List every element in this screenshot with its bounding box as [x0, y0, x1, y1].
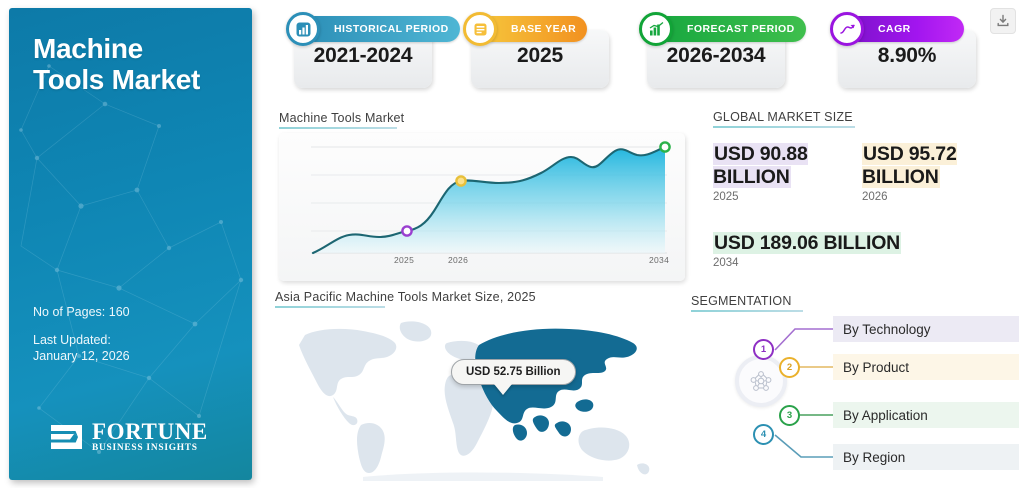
segmentation-number-label: 4	[761, 429, 766, 440]
trend-up-icon	[830, 12, 864, 46]
segmentation-number-label: 1	[761, 344, 766, 355]
connector-4	[775, 435, 833, 457]
page-title: Machine Tools Market	[33, 33, 238, 95]
download-button[interactable]	[990, 8, 1016, 34]
segmentation-number-4: 4	[753, 424, 774, 445]
connector-1	[775, 329, 833, 350]
market-size-chart: 2025 2026 2034	[279, 133, 685, 281]
chart-marker-2025	[402, 226, 411, 235]
segmentation-number-label: 2	[787, 362, 792, 373]
page-title-line2: Tools Market	[33, 64, 200, 95]
map-tooltip-value: USD 52.75 Billion	[466, 366, 561, 378]
last-updated-label: Last Updated:	[33, 332, 130, 348]
segmentation-number-2: 2	[779, 357, 800, 378]
map-heading: Asia Pacific Machine Tools Market Size, …	[275, 290, 536, 308]
kpi-value: 2021-2024	[294, 44, 432, 68]
kpi-card-cagr[interactable]: CAGR 8.90%	[824, 16, 976, 88]
gms-value-2034: USD 189.06 BILLION 2034	[713, 232, 1013, 269]
segmentation-item-by-region[interactable]: By Region	[833, 444, 1019, 470]
map-tooltip: USD 52.75 Billion	[451, 359, 576, 385]
gms-amount: USD 189.06 BILLION	[713, 232, 901, 254]
global-market-size-heading: GLOBAL MARKET SIZE	[713, 110, 853, 128]
kpi-value: 2025	[471, 44, 609, 68]
segmentation-item-by-product[interactable]: By Product	[833, 354, 1019, 380]
chart-growth-icon	[639, 12, 673, 46]
chart-canvas	[279, 133, 685, 281]
gms-year: 2034	[713, 257, 1013, 269]
chart-heading: Machine Tools Market	[279, 111, 404, 129]
kpi-label: HISTORICAL PERIOD	[334, 23, 449, 35]
chart-xtick-2026: 2026	[448, 255, 468, 265]
segmentation-item-label: By Region	[843, 450, 905, 465]
kpi-value: 8.90%	[838, 44, 976, 68]
world-map: USD 52.75 Billion	[283, 313, 683, 481]
kpi-label-pill: FORECAST PERIOD	[655, 16, 806, 42]
download-icon	[996, 14, 1010, 28]
chart-marker-2034	[660, 142, 669, 151]
kpi-label: CAGR	[878, 23, 911, 35]
chart-area-fill	[313, 147, 665, 253]
page-count-label: No of Pages: 160	[33, 304, 130, 320]
logo-text-secondary: BUSINESS INSIGHTS	[92, 444, 208, 453]
gms-value-2025: USD 90.88 BILLION 2025	[713, 143, 843, 203]
gms-amount: USD 90.88 BILLION	[713, 143, 808, 188]
report-meta: No of Pages: 160 Last Updated: January 1…	[33, 304, 130, 364]
kpi-label: BASE YEAR	[511, 23, 576, 35]
company-logo: FORTUNE BUSINESS INSIGHTS	[49, 420, 208, 453]
segmentation-number-label: 3	[787, 410, 792, 421]
infographic-page: Machine Tools Market No of Pages: 160 La…	[0, 0, 1024, 488]
gms-value-2026: USD 95.72 BILLION 2026	[862, 143, 992, 203]
segmentation-item-label: By Technology	[843, 322, 931, 337]
segmentation-item-by-technology[interactable]: By Technology	[833, 316, 1019, 342]
kpi-label: FORECAST PERIOD	[687, 23, 795, 35]
chart-xtick-2034: 2034	[649, 255, 669, 265]
segmentation-item-by-application[interactable]: By Application	[833, 402, 1019, 428]
calendar-icon	[463, 12, 497, 46]
page-title-line1: Machine	[33, 33, 143, 64]
chart-marker-2026	[456, 176, 465, 185]
kpi-card-historical-period[interactable]: HISTORICAL PERIOD 2021-2024	[280, 16, 432, 88]
gms-amount: USD 95.72 BILLION	[862, 143, 957, 188]
segmentation-number-3: 3	[779, 405, 800, 426]
kpi-value: 2026-2034	[647, 44, 785, 68]
fortune-logo-icon	[49, 422, 85, 452]
segmentation-item-label: By Application	[843, 408, 928, 423]
kpi-card-forecast-period[interactable]: FORECAST PERIOD 2026-2034	[633, 16, 785, 88]
chart-xtick-2025: 2025	[394, 255, 414, 265]
sidebar-panel: Machine Tools Market No of Pages: 160 La…	[9, 8, 252, 480]
logo-text-primary: FORTUNE	[92, 420, 208, 443]
segmentation-diagram: 1 By Technology 2 By Product 3 By Applic…	[691, 305, 1021, 480]
segmentation-number-1: 1	[753, 339, 774, 360]
world-map-svg	[283, 313, 683, 481]
gms-year: 2026	[862, 191, 992, 203]
kpi-label-pill: HISTORICAL PERIOD	[302, 16, 460, 42]
gms-year: 2025	[713, 191, 843, 203]
bar-chart-icon	[286, 12, 320, 46]
last-updated-date: January 12, 2026	[33, 348, 130, 364]
segmentation-item-label: By Product	[843, 360, 909, 375]
kpi-card-base-year[interactable]: BASE YEAR 2025	[457, 16, 609, 88]
